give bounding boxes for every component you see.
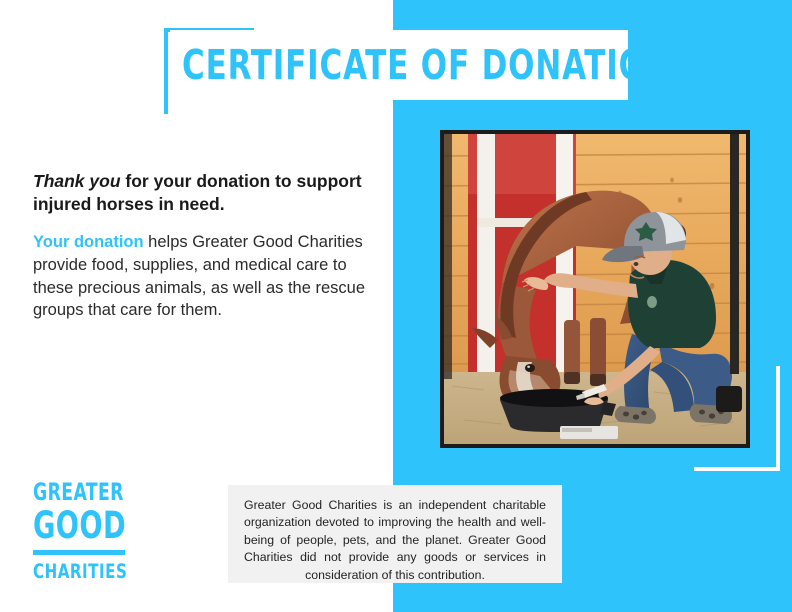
lead-paragraph: Thank you for your donation to support i… [33,170,363,217]
logo-line-charities: CHARITIES [33,562,116,582]
donation-photo [444,134,746,444]
logo-divider-rule [33,550,125,555]
certificate-page: CERTIFICATE OF DONATION Thank you for yo… [0,0,792,612]
logo-line-good: GOOD [33,507,112,544]
greater-good-charities-logo: GREATER GOOD CHARITIES [33,480,129,582]
page-title: CERTIFICATE OF DONATION [182,30,557,100]
disclaimer-text: Greater Good Charities is an independent… [244,497,546,584]
disclaimer-box: Greater Good Charities is an independent… [228,485,562,583]
photo-frame [440,130,750,448]
body-highlight: Your donation [33,233,144,251]
lead-emphasis: Thank you [33,171,121,191]
photo-illustration [444,134,746,444]
logo-line-greater: GREATER [33,480,110,504]
body-paragraph: Your donation helps Greater Good Chariti… [33,231,378,322]
